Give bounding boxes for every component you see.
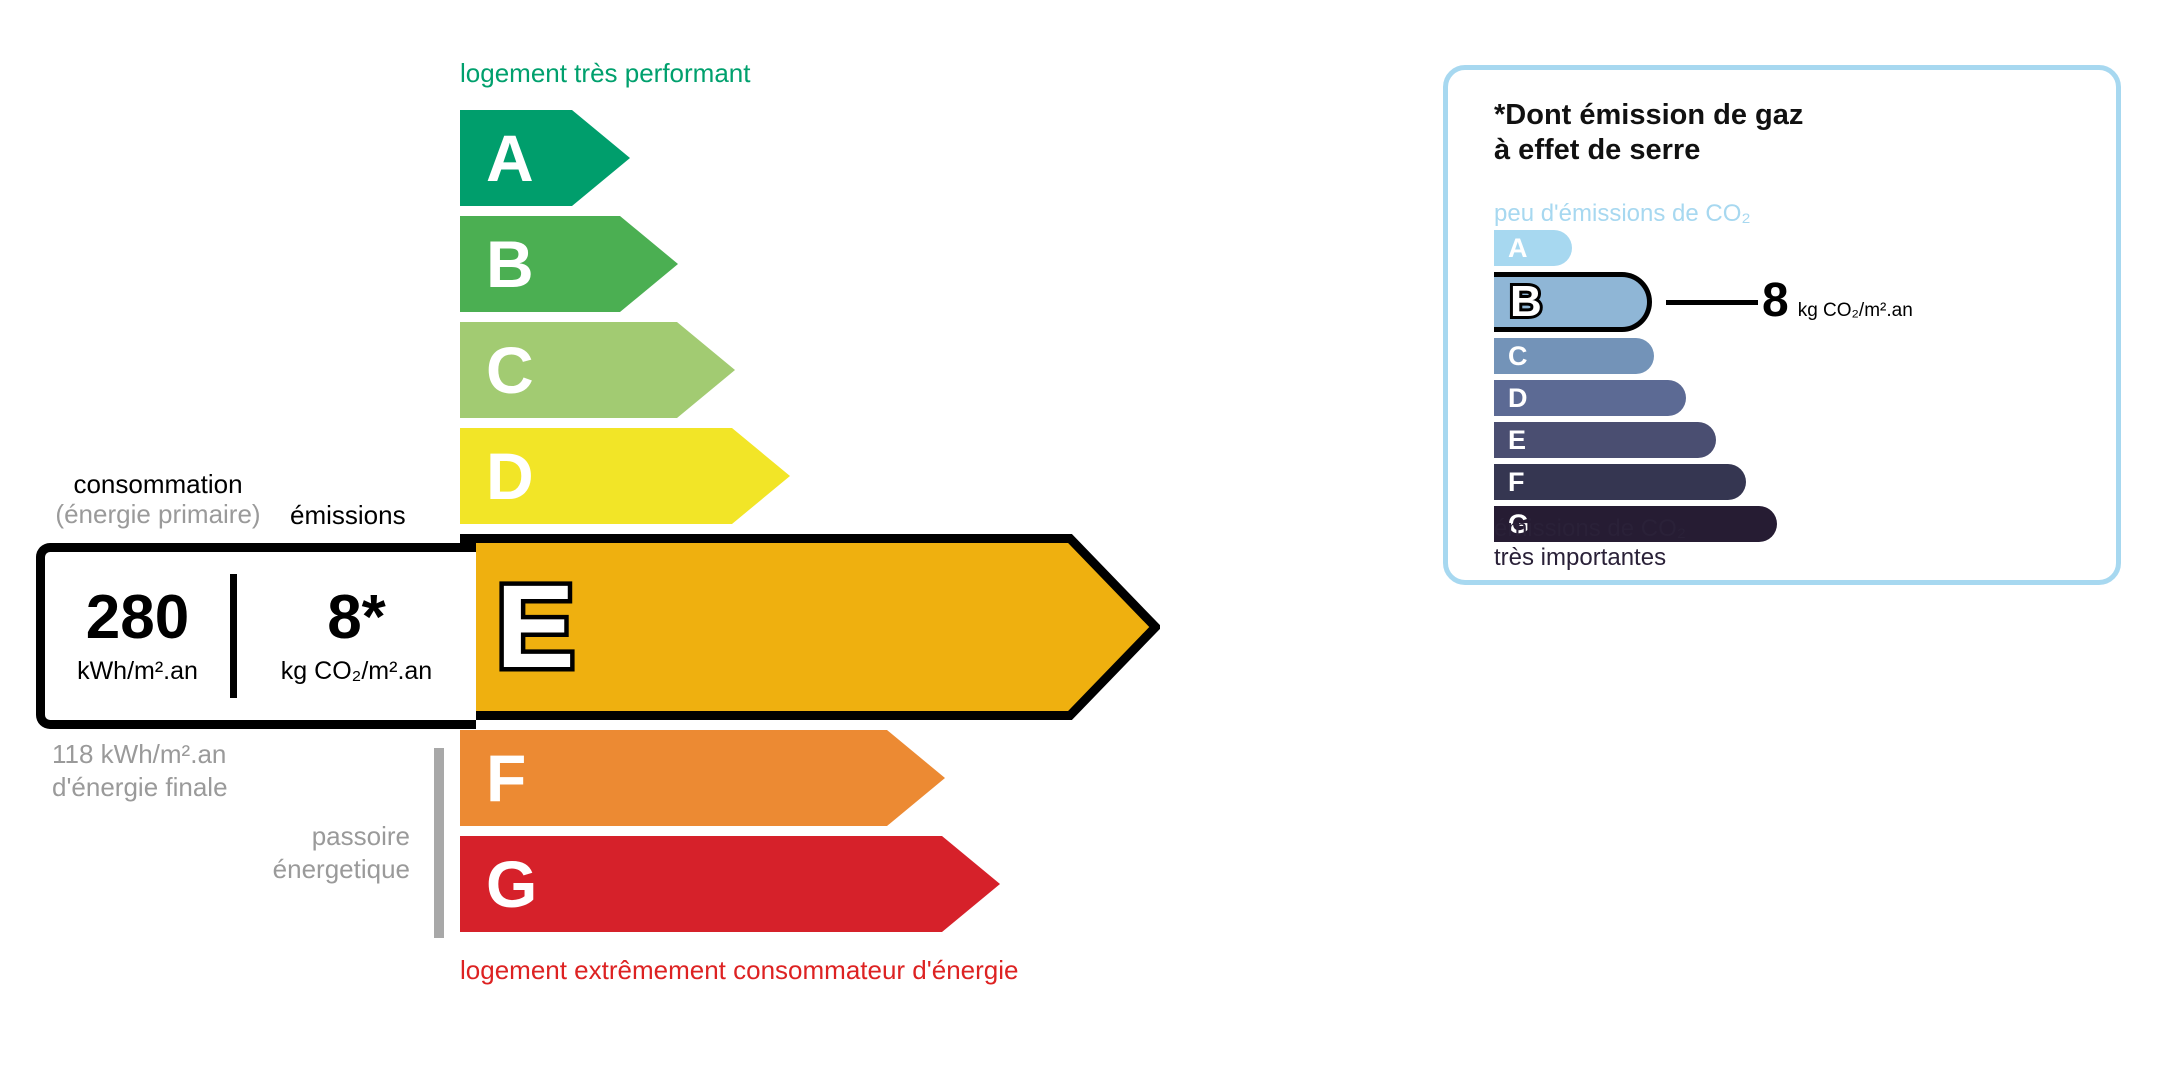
passoire-indicator-bar [434, 748, 444, 938]
co2-bar-f: F [1494, 464, 1746, 500]
value-box-divider [230, 574, 237, 698]
consumption-label-sub: (énergie primaire) [48, 500, 268, 530]
energy-letter-b: B [486, 231, 534, 297]
energy-letter-a: A [486, 125, 534, 191]
co2-callout-line [1666, 300, 1758, 305]
co2-row-d: D [1494, 380, 2094, 416]
energy-row-e: E [460, 534, 1240, 720]
co2-bar-d: D [1494, 380, 1686, 416]
co2-letter-f: F [1508, 469, 1525, 496]
co2-bar-a: A [1494, 230, 1572, 266]
value-summary-box: 280 kWh/m².an 8* kg CO₂/m².an [36, 543, 476, 729]
co2-best-caption: peu d'émissions de CO₂ [1494, 200, 1751, 228]
energy-arrow-f: F [460, 730, 945, 826]
emission-value: 8* [327, 587, 386, 649]
energy-row-c: C [460, 322, 1240, 418]
consumption-label-main: consommation [73, 469, 242, 499]
energy-arrow-a: A [460, 110, 630, 206]
energy-arrow-d: D [460, 428, 790, 524]
passoire-energetique-label: passoire énergetique [120, 820, 410, 885]
energy-row-f: F [460, 730, 1240, 826]
co2-bar-b: B [1494, 272, 1652, 332]
emissions-label: émissions [290, 500, 406, 531]
co2-emissions-panel: *Dont émission de gaz à effet de serre p… [1443, 65, 2121, 585]
co2-callout-unit: kg CO₂/m².an [1798, 300, 1913, 322]
energy-letter-e: E [496, 568, 575, 686]
emission-value-cell: 8* kg CO₂/m².an [237, 552, 476, 720]
co2-class-bars: AB8kg CO₂/m².anCDEFG [1494, 230, 2094, 548]
energy-arrow-e: E [460, 534, 1160, 720]
energy-class-bars: ABCDEFG [460, 110, 1240, 942]
co2-row-c: C [1494, 338, 2094, 374]
energy-best-caption: logement très performant [460, 58, 750, 89]
co2-letter-b: B [1510, 280, 1542, 324]
energy-row-b: B [460, 216, 1240, 312]
energy-arrow-shape-f [460, 730, 945, 826]
co2-worst-caption: émissions de CO₂ très importantes [1494, 515, 1686, 573]
energy-letter-c: C [486, 337, 534, 403]
co2-row-a: A [1494, 230, 2094, 266]
final-energy-label: 118 kWh/m².an d'énergie finale [52, 738, 228, 803]
energy-arrow-g: G [460, 836, 1000, 932]
co2-letter-c: C [1508, 343, 1528, 370]
co2-row-b: B8kg CO₂/m².an [1494, 272, 2094, 332]
co2-row-f: F [1494, 464, 2094, 500]
energy-letter-f: F [486, 745, 526, 811]
energy-arrow-b: B [460, 216, 678, 312]
energy-row-a: A [460, 110, 1240, 206]
co2-callout-value: 8kg CO₂/m².an [1762, 277, 1913, 325]
co2-panel-title: *Dont émission de gaz à effet de serre [1494, 98, 1803, 168]
energy-letter-g: G [486, 851, 537, 917]
energy-worst-caption: logement extrêmement consommateur d'éner… [460, 955, 1018, 986]
consumption-value: 280 [86, 587, 189, 649]
co2-callout-number: 8 [1762, 277, 1789, 325]
energy-row-g: G [460, 836, 1240, 932]
co2-letter-e: E [1508, 427, 1526, 454]
consumption-label: consommation (énergie primaire) [48, 470, 268, 530]
co2-bar-c: C [1494, 338, 1654, 374]
consumption-unit: kWh/m².an [77, 657, 198, 686]
emission-unit: kg CO₂/m².an [281, 657, 432, 686]
energy-performance-panel: logement très performant ABCDEFG consomm… [0, 0, 1300, 1079]
co2-letter-a: A [1508, 235, 1528, 262]
co2-bar-e: E [1494, 422, 1716, 458]
energy-arrow-shape-g [460, 836, 1000, 932]
energy-letter-d: D [486, 443, 534, 509]
consumption-value-cell: 280 kWh/m².an [45, 552, 230, 720]
co2-letter-d: D [1508, 385, 1528, 412]
energy-arrow-c: C [460, 322, 735, 418]
co2-row-e: E [1494, 422, 2094, 458]
energy-row-d: D [460, 428, 1240, 524]
